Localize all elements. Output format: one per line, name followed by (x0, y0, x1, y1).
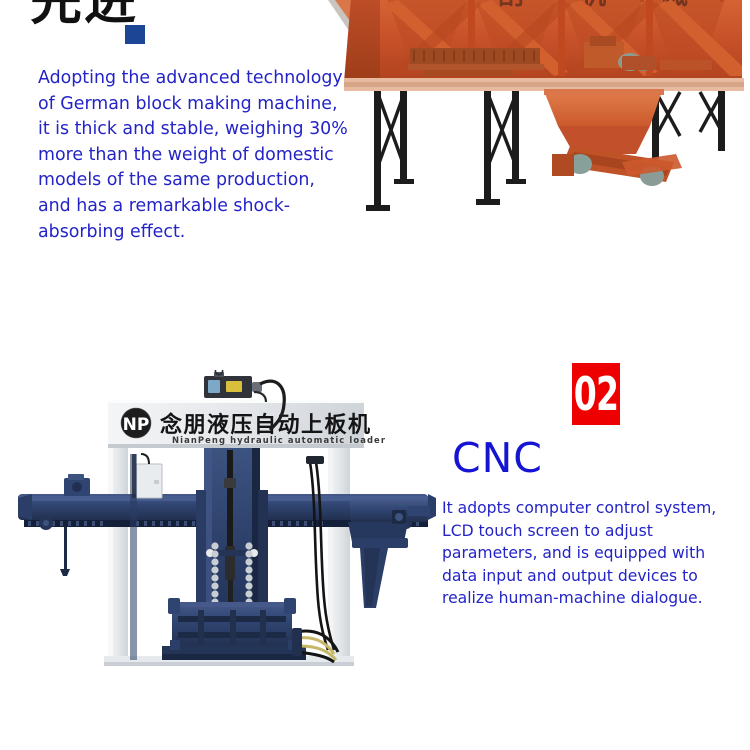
product-detail-page: 先进 Adopting the advanced technology of G… (0, 0, 750, 750)
hydraulic-loader-machine-image: NP 念朋液压自动上板机 NianPeng hydraulic automati… (8, 370, 436, 675)
section-cnc-heading: CNC (452, 435, 543, 481)
section-cnc: 02 CNC It adopts computer control system… (0, 355, 750, 695)
brand-english-text: NianPeng hydraulic automatic loader (172, 435, 386, 445)
section-advanced-paragraph: Adopting the advanced technology of Germ… (38, 66, 350, 245)
np-logo-text: NP (123, 415, 150, 435)
section-advanced: 先进 Adopting the advanced technology of G… (0, 0, 750, 300)
section-number-badge: 02 (572, 363, 620, 425)
section-cnc-paragraph: It adopts computer control system, LCD t… (442, 497, 734, 610)
section-advanced-chinese-heading: 先进 (30, 0, 138, 28)
blue-square-accent-icon (125, 25, 145, 44)
orange-batching-machine-image: 机 械 刮 (322, 0, 750, 228)
